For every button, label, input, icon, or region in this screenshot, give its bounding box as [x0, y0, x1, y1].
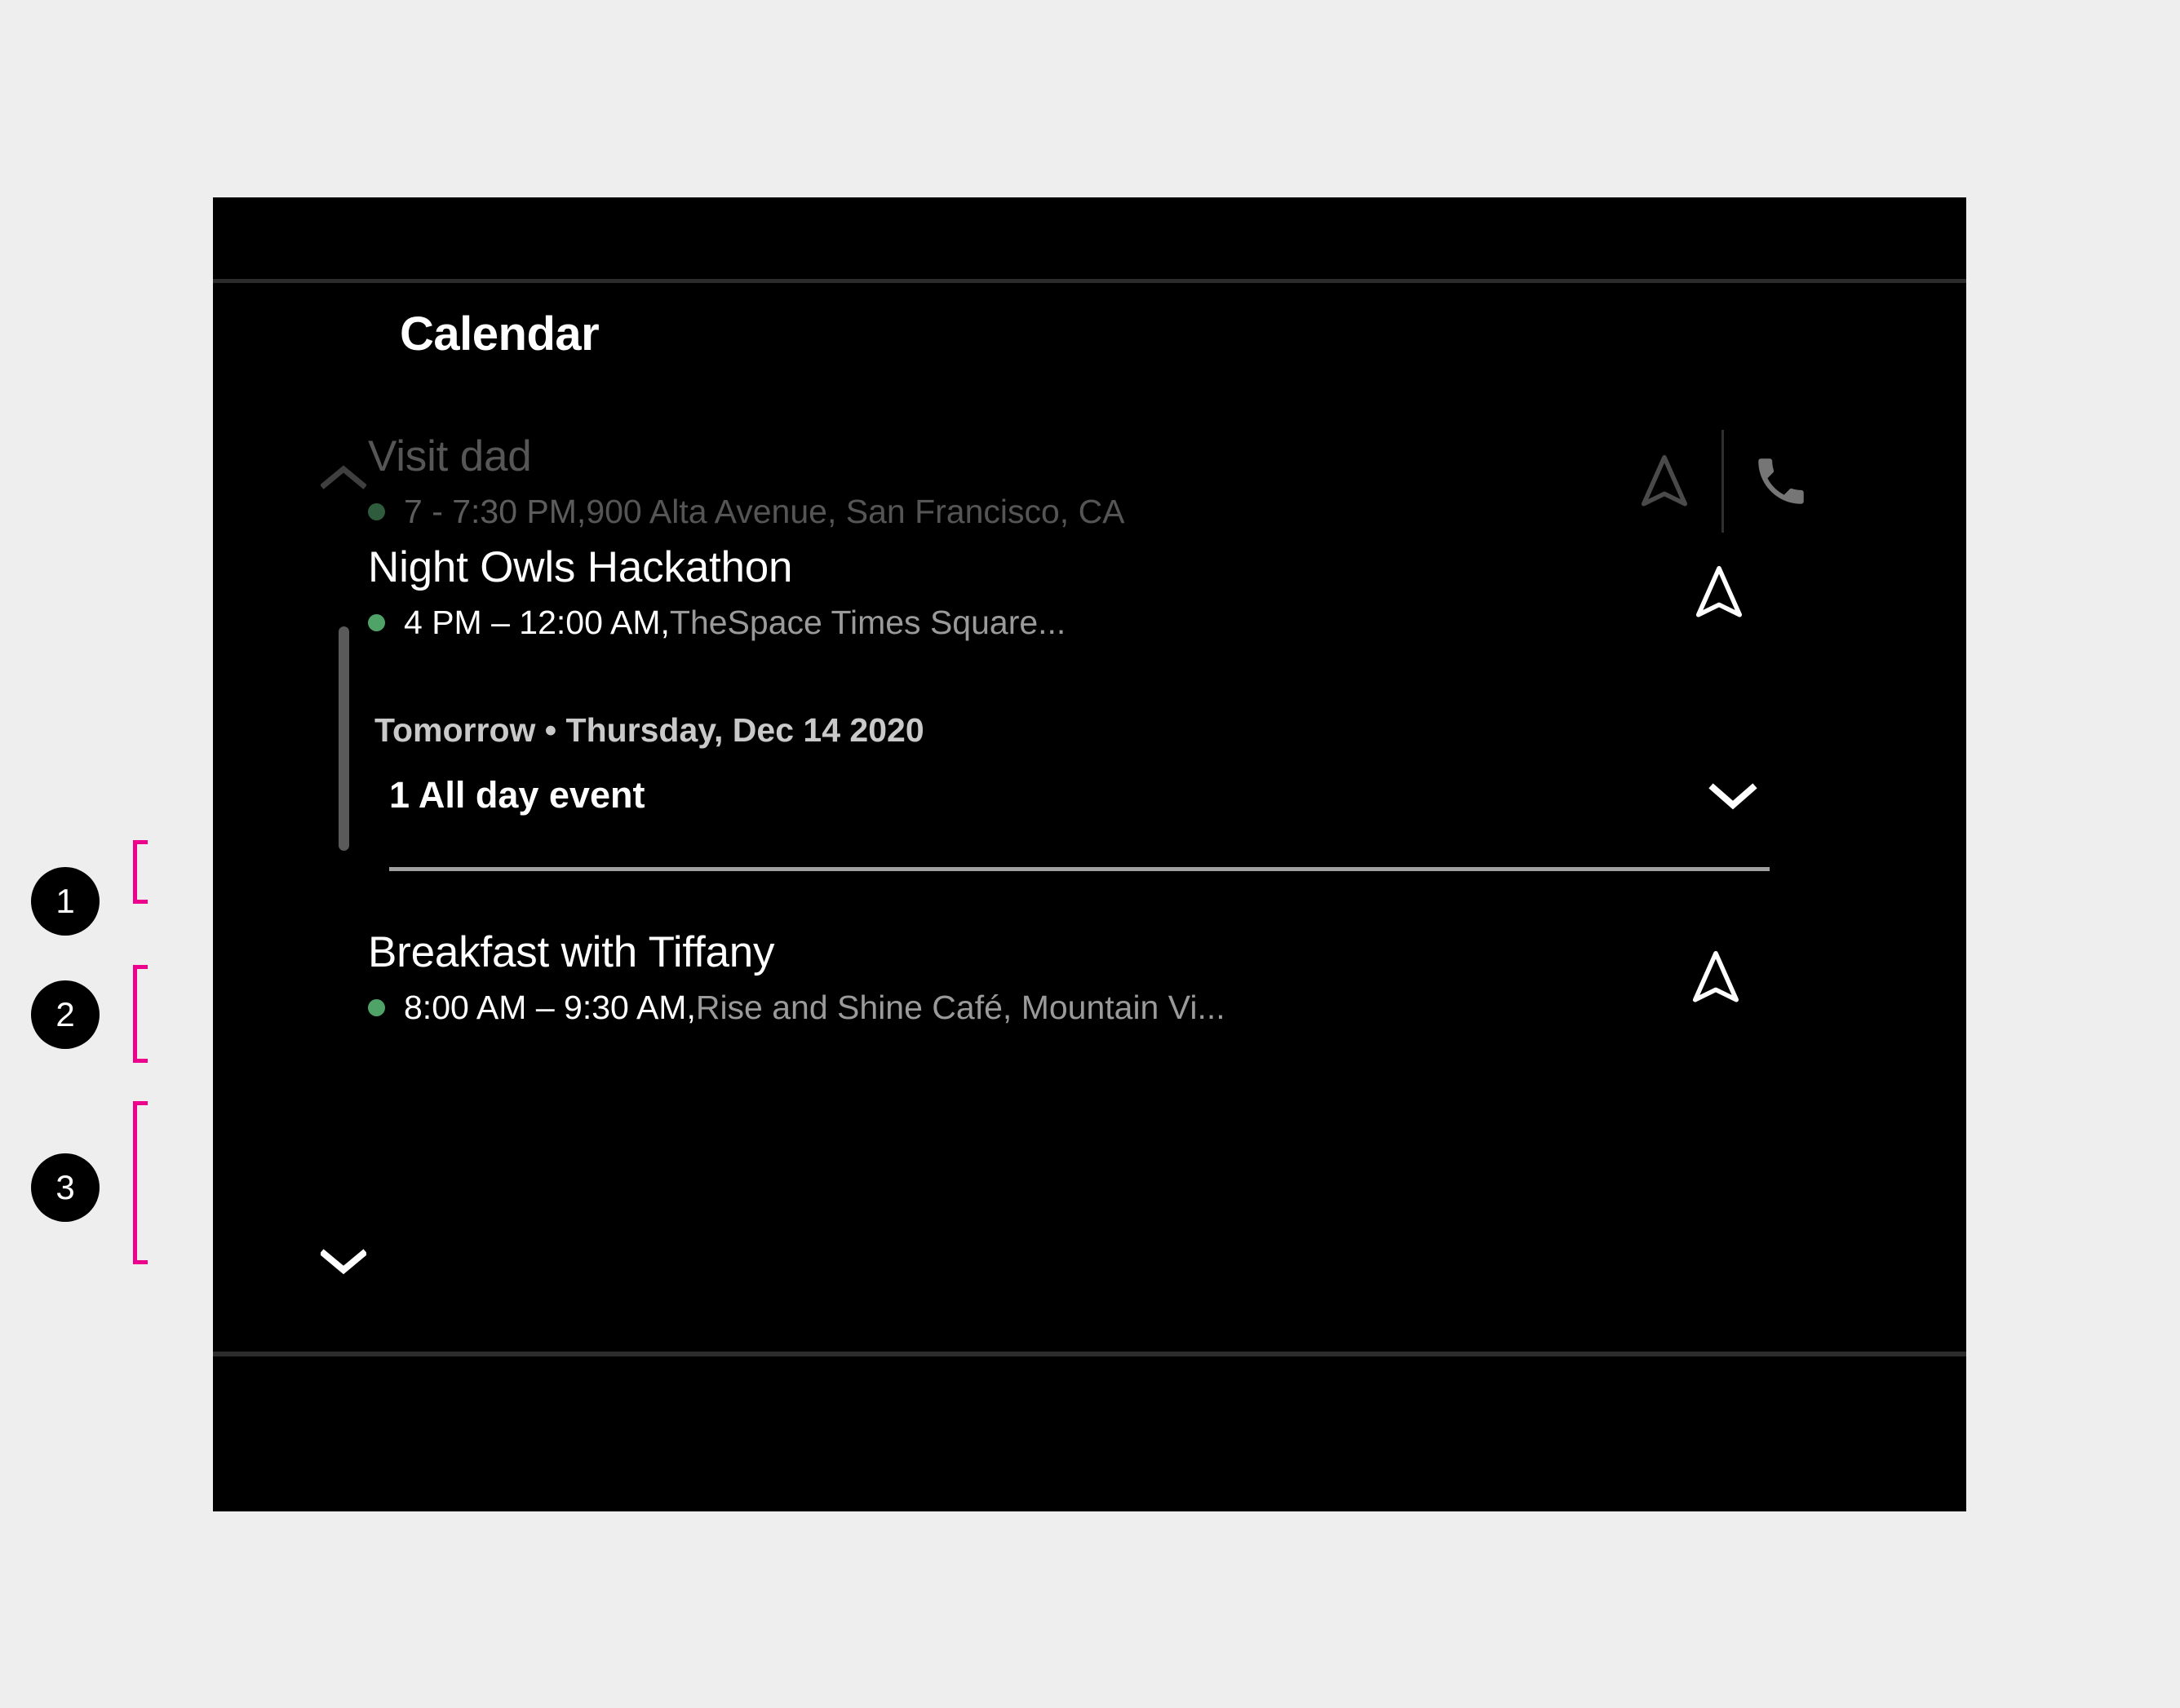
callout-bracket-2: [133, 965, 148, 1063]
event-text-block: Visit dad 7 - 7:30 PM, 900 Alta Avenue, …: [368, 431, 1609, 531]
event-status-dot: [368, 999, 385, 1016]
event-status-dot: [368, 503, 385, 520]
scrollbar-thumb[interactable]: [339, 626, 349, 851]
callout-badge-number: 1: [31, 867, 100, 936]
date-header: Tomorrow • Thursday, Dec 14 2020: [374, 711, 924, 750]
navigate-button[interactable]: [1677, 938, 1755, 1016]
event-time: 8:00 AM – 9:30 AM,: [404, 989, 696, 1027]
all-day-event-row[interactable]: 1 All day event: [389, 774, 1821, 816]
navigate-button[interactable]: [1680, 553, 1758, 631]
action-divider: [1721, 430, 1724, 533]
scroll-down-button[interactable]: [321, 1247, 366, 1275]
event-title: Breakfast with Tiffany: [368, 927, 1660, 977]
event-location: TheSpace Times Square...: [670, 604, 1066, 642]
chevron-down-icon: [1708, 781, 1757, 810]
phone-icon: [1751, 451, 1811, 511]
event-row[interactable]: Visit dad 7 - 7:30 PM, 900 Alta Avenue, …: [368, 430, 1820, 533]
calendar-panel: Calendar Visit dad: [213, 283, 1966, 1352]
event-subtitle: 7 - 7:30 PM, 900 Alta Avenue, San Franci…: [368, 493, 1609, 531]
callout-2: 2: [31, 980, 100, 1049]
event-row[interactable]: Night Owls Hackathon 4 PM – 12:00 AM, Th…: [368, 542, 1820, 642]
chevron-up-icon: [321, 464, 366, 492]
section-divider: [389, 867, 1770, 871]
event-title: Night Owls Hackathon: [368, 542, 1664, 592]
event-subtitle: 8:00 AM – 9:30 AM, Rise and Shine Café, …: [368, 989, 1660, 1027]
navigate-button[interactable]: [1625, 442, 1704, 520]
event-status-dot: [368, 614, 385, 631]
annotation-gutter: 1 2 3: [0, 0, 213, 1708]
call-button[interactable]: [1742, 442, 1820, 520]
event-actions: [1677, 938, 1820, 1016]
event-subtitle: 4 PM – 12:00 AM, TheSpace Times Square..…: [368, 604, 1664, 642]
callout-1: 1: [31, 867, 100, 936]
event-list: Visit dad 7 - 7:30 PM, 900 Alta Avenue, …: [368, 283, 1966, 1352]
all-day-event-label: 1 All day event: [389, 774, 1708, 816]
event-time: 4 PM – 12:00 AM,: [404, 604, 670, 642]
navigation-icon: [1634, 451, 1695, 511]
callout-bracket-1: [133, 840, 148, 904]
calendar-card: Calendar Visit dad: [213, 197, 1966, 1511]
navigation-icon: [1689, 562, 1749, 622]
callout-badge-number: 2: [31, 980, 100, 1049]
event-time: 7 - 7:30 PM,: [404, 493, 586, 531]
event-actions: [1680, 553, 1820, 631]
callout-badge-number: 3: [31, 1153, 100, 1222]
event-location: Rise and Shine Café, Mountain Vi...: [696, 989, 1225, 1027]
navigation-icon: [1686, 947, 1746, 1007]
event-location: 900 Alta Avenue, San Francisco, CA: [586, 493, 1124, 531]
chevron-down-icon: [321, 1247, 366, 1275]
callout-3: 3: [31, 1153, 100, 1222]
event-title: Visit dad: [368, 431, 1609, 481]
system-bottom-bar: [213, 1356, 1966, 1511]
system-top-bar: [213, 197, 1966, 279]
event-text-block: Night Owls Hackathon 4 PM – 12:00 AM, Th…: [368, 542, 1664, 642]
scroll-up-button[interactable]: [321, 464, 366, 492]
event-text-block: Breakfast with Tiffany 8:00 AM – 9:30 AM…: [368, 927, 1660, 1027]
all-day-expand-button[interactable]: [1708, 781, 1757, 810]
event-row[interactable]: Breakfast with Tiffany 8:00 AM – 9:30 AM…: [368, 927, 1820, 1027]
event-actions: [1625, 430, 1820, 533]
callout-bracket-3: [133, 1101, 148, 1264]
